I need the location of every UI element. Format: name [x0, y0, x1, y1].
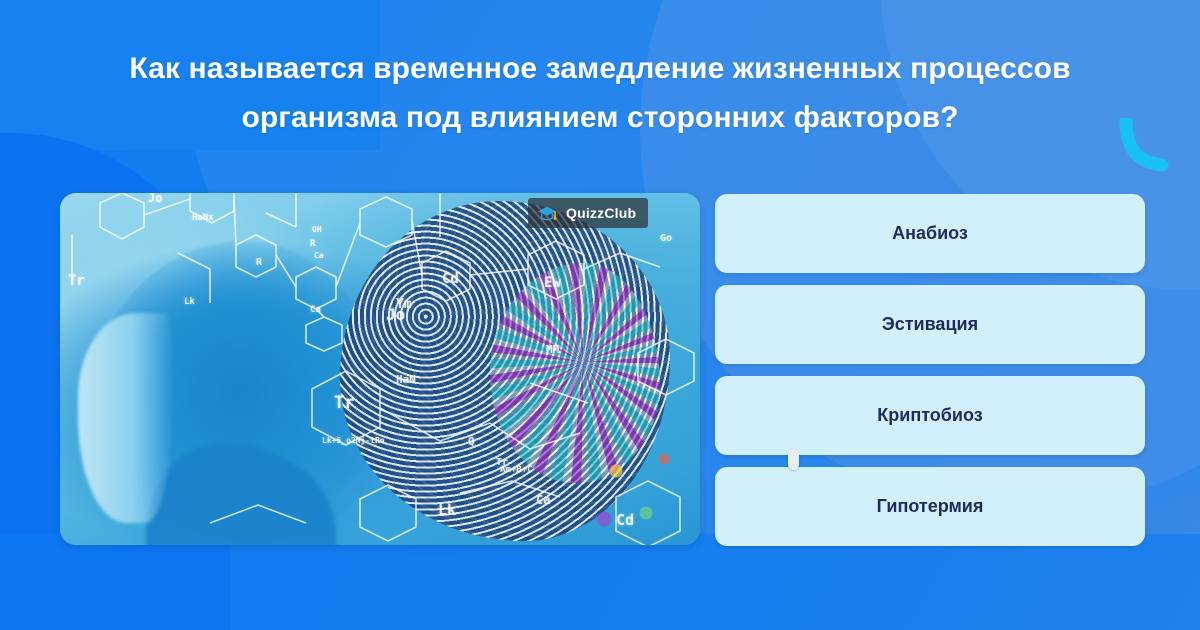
answer-option-1[interactable]: Анабиоз	[715, 194, 1145, 273]
pointer-marker-icon	[788, 449, 799, 470]
background-bottom-band	[0, 534, 1200, 630]
chemistry-overlay-icon	[60, 193, 700, 545]
answer-option-4-label: Гипотермия	[877, 496, 984, 517]
answer-option-3[interactable]: Криптобиоз	[715, 376, 1145, 455]
answer-option-1-label: Анабиоз	[892, 223, 968, 244]
answer-option-4[interactable]: Гипотермия	[715, 467, 1145, 546]
graduation-cap-icon	[536, 204, 558, 222]
quiz-card: Как называется временное замедление жизн…	[0, 0, 1200, 630]
quizzclub-watermark: QuizzClub	[528, 198, 648, 228]
answer-option-2[interactable]: Эстивация	[715, 285, 1145, 364]
answer-option-3-label: Криптобиоз	[877, 405, 982, 426]
question-image: Jo HaNx Tr R R OH Lk Ca Ca Cd Jo Tr Lk+5…	[60, 193, 700, 545]
answer-option-2-label: Эстивация	[882, 314, 978, 335]
answer-options-list: Анабиоз Эстивация Криптобиоз Гипотермия	[715, 194, 1145, 546]
quizzclub-logo-text: QuizzClub	[566, 205, 636, 221]
question-text: Как называется временное замедление жизн…	[50, 44, 1150, 142]
question-image-card: Jo HaNx Tr R R OH Lk Ca Ca Cd Jo Tr Lk+5…	[60, 193, 700, 545]
